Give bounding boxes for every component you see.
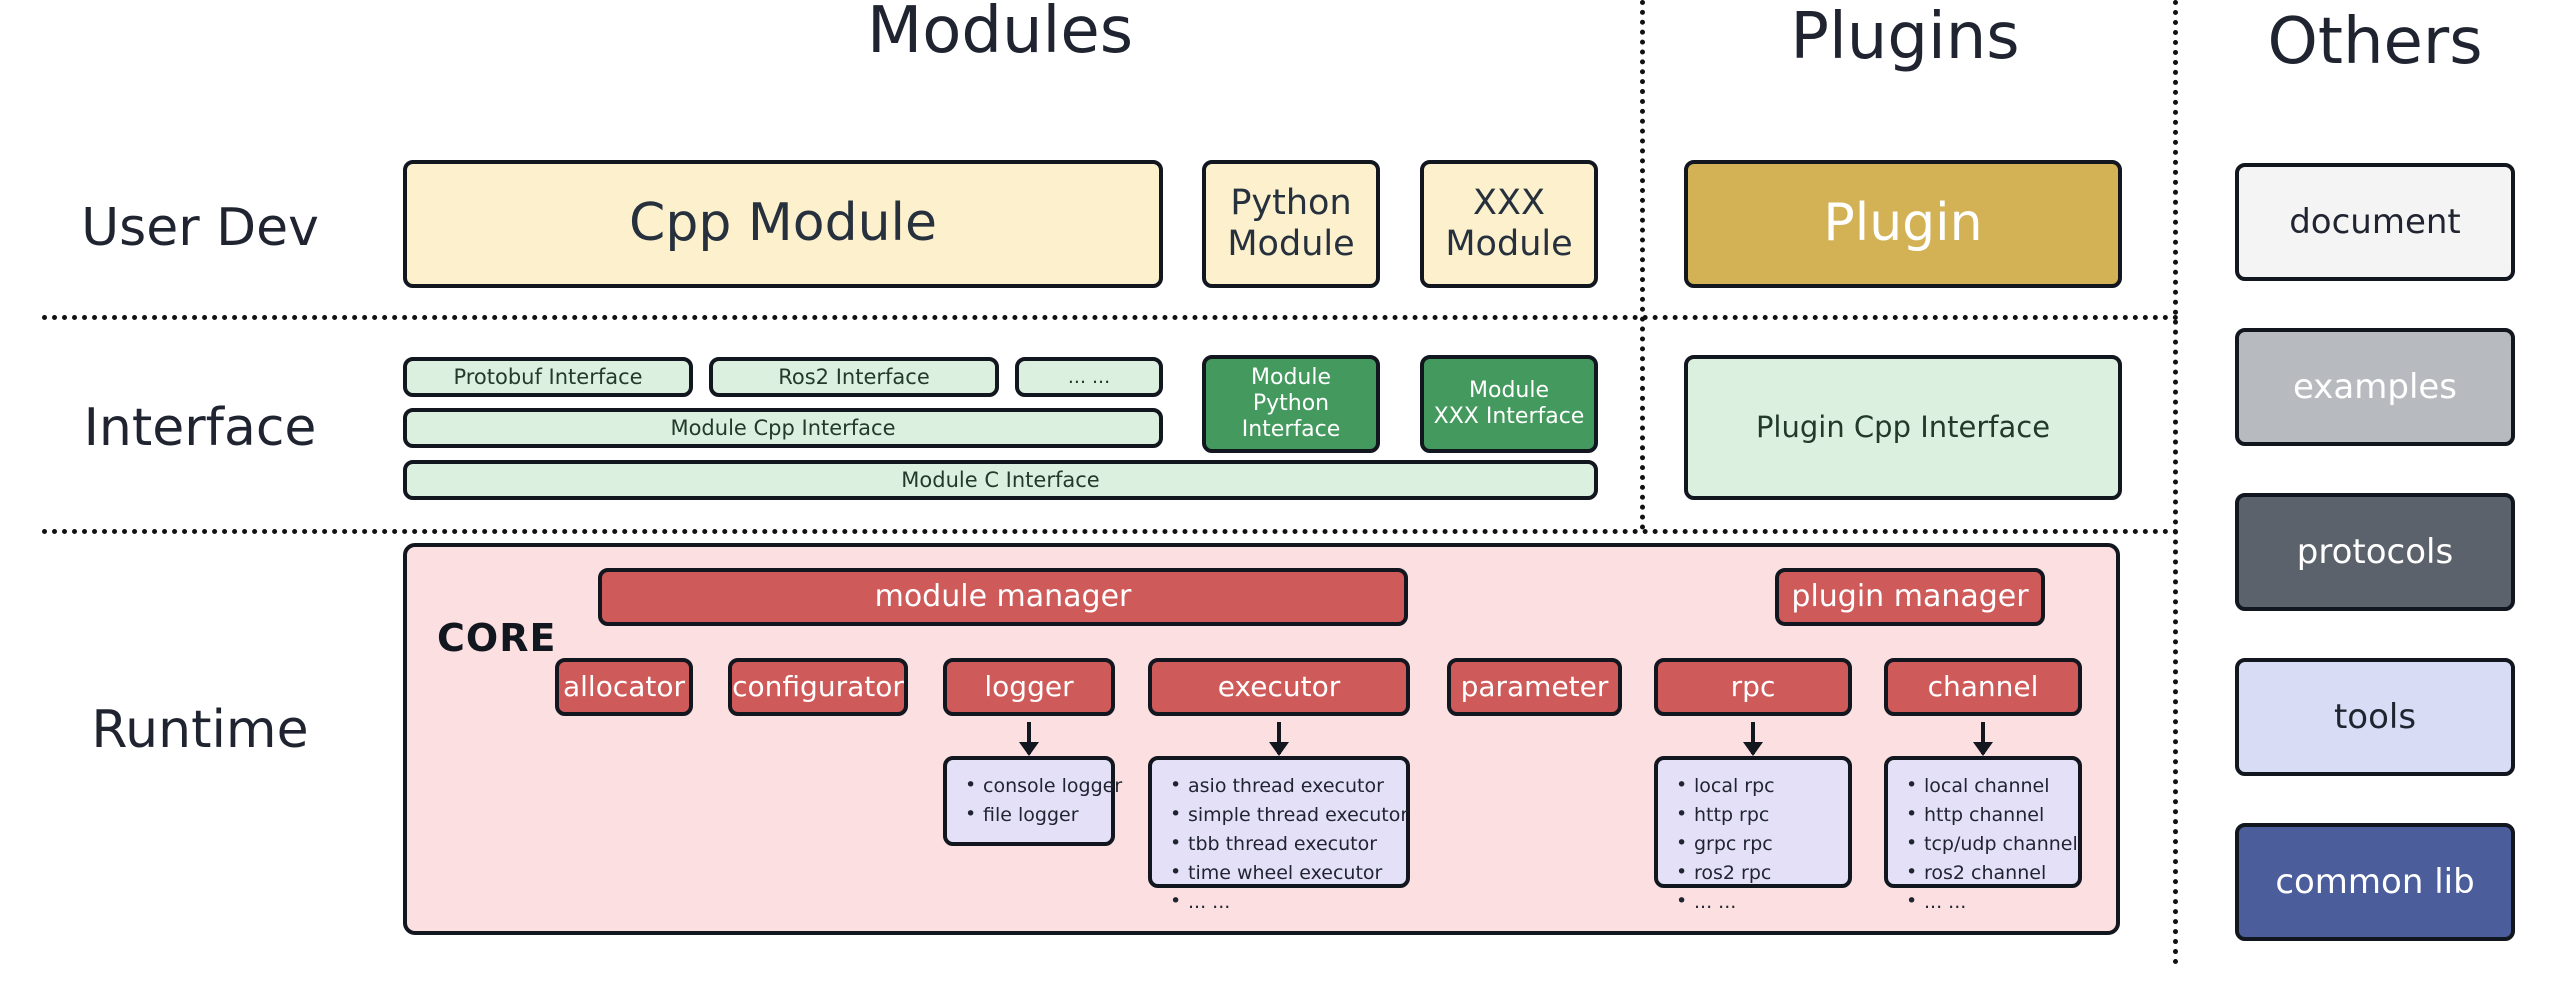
ros2-interface-label: Ros2 Interface <box>778 365 930 390</box>
horizontal-divider-userdev-interface <box>42 315 2180 320</box>
list-item: tbb thread executor <box>1188 830 1396 859</box>
module-c-interface-box[interactable]: Module C Interface <box>403 460 1598 500</box>
python-module-label-line2: Module <box>1227 224 1354 265</box>
plugin-box[interactable]: Plugin <box>1684 160 2122 288</box>
others-item-label: document <box>2289 202 2461 242</box>
list-item: ... ... <box>1694 888 1838 917</box>
others-item-protocols[interactable]: protocols <box>2235 493 2515 611</box>
others-item-label: protocols <box>2297 532 2453 572</box>
vertical-divider-plugins-others <box>2173 0 2178 965</box>
configurator-box[interactable]: configurator <box>728 658 908 716</box>
other-interface-box[interactable]: ... ... <box>1015 357 1163 397</box>
list-item: time wheel executor <box>1188 859 1396 888</box>
others-item-common-lib[interactable]: common lib <box>2235 823 2515 941</box>
logger-detail-box: console logger file logger <box>943 756 1115 846</box>
xxx-module-box[interactable]: XXX Module <box>1420 160 1598 288</box>
architecture-diagram: Modules Plugins Others User Dev Interfac… <box>0 0 2560 984</box>
plugin-label: Plugin <box>1823 193 1982 254</box>
list-item: ... ... <box>1924 888 2068 917</box>
allocator-label: allocator <box>563 670 685 703</box>
configurator-label: configurator <box>732 670 904 703</box>
module-xxx-interface-label-line2: XXX Interface <box>1434 404 1585 430</box>
arrow-logger-down <box>1027 722 1031 754</box>
module-xxx-interface-box[interactable]: Module XXX Interface <box>1420 355 1598 453</box>
python-module-box[interactable]: Python Module <box>1202 160 1380 288</box>
list-item: ros2 rpc <box>1694 859 1838 888</box>
others-item-label: tools <box>2334 697 2416 737</box>
module-python-interface-label-line1: Module <box>1251 365 1331 391</box>
rpc-label: rpc <box>1731 670 1776 703</box>
horizontal-divider-interface-runtime <box>42 529 2180 534</box>
vertical-divider-modules-plugins <box>1640 0 1645 530</box>
plugin-cpp-interface-box[interactable]: Plugin Cpp Interface <box>1684 355 2122 500</box>
executor-detail-list: asio thread executor simple thread execu… <box>1166 772 1396 916</box>
logger-label: logger <box>984 670 1073 703</box>
module-c-interface-label: Module C Interface <box>901 468 1099 493</box>
parameter-label: parameter <box>1461 670 1609 703</box>
arrow-executor-down <box>1277 722 1281 754</box>
channel-detail-box: local channel http channel tcp/udp chann… <box>1884 756 2082 888</box>
list-item: local rpc <box>1694 772 1838 801</box>
others-item-label: common lib <box>2275 862 2474 902</box>
others-item-label: examples <box>2293 367 2457 407</box>
rpc-detail-box: local rpc http rpc grpc rpc ros2 rpc ...… <box>1654 756 1852 888</box>
cpp-module-box[interactable]: Cpp Module <box>403 160 1163 288</box>
core-label: CORE <box>437 616 556 660</box>
module-cpp-interface-box[interactable]: Module Cpp Interface <box>403 408 1163 448</box>
list-item: console logger <box>983 772 1101 801</box>
list-item: http rpc <box>1694 801 1838 830</box>
executor-detail-box: asio thread executor simple thread execu… <box>1148 756 1410 888</box>
others-item-document[interactable]: document <box>2235 163 2515 281</box>
rpc-box[interactable]: rpc <box>1654 658 1852 716</box>
others-item-tools[interactable]: tools <box>2235 658 2515 776</box>
allocator-box[interactable]: allocator <box>555 658 693 716</box>
ros2-interface-box[interactable]: Ros2 Interface <box>709 357 999 397</box>
plugin-manager-box[interactable]: plugin manager <box>1775 568 2045 626</box>
list-item: http channel <box>1924 801 2068 830</box>
others-item-examples[interactable]: examples <box>2235 328 2515 446</box>
list-item: simple thread executor <box>1188 801 1396 830</box>
list-item: file logger <box>983 801 1101 830</box>
module-python-interface-box[interactable]: Module Python Interface <box>1202 355 1380 453</box>
python-module-label-line1: Python <box>1230 183 1351 224</box>
list-item: ... ... <box>1188 888 1396 917</box>
list-item: ros2 channel <box>1924 859 2068 888</box>
other-interface-label: ... ... <box>1068 366 1110 388</box>
xxx-module-label-line1: XXX <box>1473 183 1545 224</box>
module-cpp-interface-label: Module Cpp Interface <box>670 416 895 441</box>
module-manager-box[interactable]: module manager <box>598 568 1408 626</box>
list-item: local channel <box>1924 772 2068 801</box>
column-title-plugins: Plugins <box>1655 0 2155 74</box>
list-item: grpc rpc <box>1694 830 1838 859</box>
row-label-user-dev: User Dev <box>20 198 380 258</box>
module-manager-label: module manager <box>875 579 1132 614</box>
channel-detail-list: local channel http channel tcp/udp chann… <box>1902 772 2068 916</box>
column-title-others: Others <box>2215 5 2535 79</box>
logger-detail-list: console logger file logger <box>961 772 1101 830</box>
executor-box[interactable]: executor <box>1148 658 1410 716</box>
module-xxx-interface-label-line1: Module <box>1469 378 1549 404</box>
protobuf-interface-label: Protobuf Interface <box>453 365 642 390</box>
xxx-module-label-line2: Module <box>1445 224 1572 265</box>
channel-box[interactable]: channel <box>1884 658 2082 716</box>
arrow-rpc-down <box>1751 722 1755 754</box>
rpc-detail-list: local rpc http rpc grpc rpc ros2 rpc ...… <box>1672 772 1838 916</box>
parameter-box[interactable]: parameter <box>1447 658 1622 716</box>
cpp-module-label: Cpp Module <box>629 193 937 254</box>
row-label-runtime: Runtime <box>20 700 380 760</box>
plugin-cpp-interface-label: Plugin Cpp Interface <box>1756 410 2050 444</box>
column-title-modules: Modules <box>760 0 1240 68</box>
arrow-channel-down <box>1981 722 1985 754</box>
channel-label: channel <box>1928 670 2039 703</box>
list-item: asio thread executor <box>1188 772 1396 801</box>
protobuf-interface-box[interactable]: Protobuf Interface <box>403 357 693 397</box>
executor-label: executor <box>1218 670 1340 703</box>
list-item: tcp/udp channel <box>1924 830 2068 859</box>
module-python-interface-label-line2: Python Interface <box>1206 391 1376 443</box>
row-label-interface: Interface <box>20 398 380 458</box>
logger-box[interactable]: logger <box>943 658 1115 716</box>
plugin-manager-label: plugin manager <box>1791 579 2028 614</box>
